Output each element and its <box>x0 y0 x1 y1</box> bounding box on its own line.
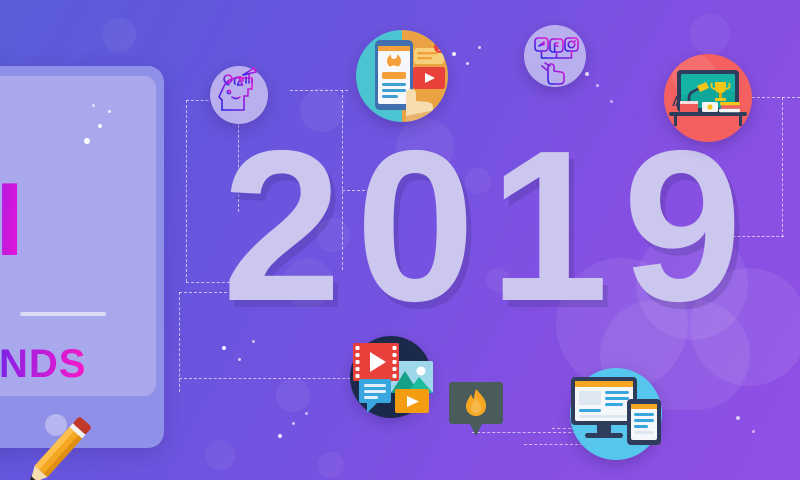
tablet-screen: UI TRENDS <box>0 76 156 396</box>
icon-badge-creative-mind[interactable] <box>210 66 268 124</box>
svg-text:1: 1 <box>438 44 443 53</box>
brain-head-icon <box>210 66 268 124</box>
bg-blob <box>318 452 344 478</box>
responsive-devices-icon <box>561 359 671 469</box>
sparkle-dot <box>478 46 481 49</box>
tablet-device: UI TRENDS <box>0 66 164 448</box>
icon-badge-social-network[interactable] <box>524 25 586 87</box>
banner-canvas: 2019 UI TRENDS <box>0 0 800 480</box>
icon-badge-responsive[interactable] <box>570 368 662 460</box>
icon-badge-rich-media[interactable] <box>350 336 432 418</box>
icon-badge-workspace[interactable] <box>664 54 752 142</box>
sparkle-dot <box>466 62 469 65</box>
bg-blob <box>276 378 310 412</box>
connector-line <box>290 90 348 91</box>
icon-badge-mobile-social[interactable]: 1 <box>356 30 448 122</box>
flame-trending-icon <box>448 378 504 440</box>
sparkle-dot <box>292 422 295 425</box>
mobile-social-video-icon: 1 <box>356 30 448 122</box>
rich-media-content-icon <box>341 327 441 427</box>
sparkle-dot <box>222 346 226 350</box>
sparkle-dot <box>278 434 282 438</box>
workspace-desk-icon <box>664 54 752 142</box>
sparkle-dot <box>610 100 613 103</box>
bg-blob <box>690 14 730 54</box>
sparkle-dot <box>752 430 755 433</box>
year-headline: 2019 <box>222 118 756 333</box>
tablet-home-button[interactable] <box>45 414 67 436</box>
connector-line <box>186 100 187 282</box>
pencil-stroke-line <box>0 76 156 396</box>
icon-badge-trending[interactable] <box>448 378 504 440</box>
sparkle-dot <box>305 412 308 415</box>
connector-line <box>179 292 180 392</box>
connector-line <box>179 292 227 293</box>
connector-line <box>782 97 783 237</box>
sparkle-dot <box>452 52 456 56</box>
sparkle-dot <box>596 84 599 87</box>
bg-blob <box>205 440 235 470</box>
bg-blob <box>102 18 136 52</box>
social-network-icon <box>524 25 586 87</box>
sparkle-dot <box>736 416 740 420</box>
sparkle-dot <box>238 358 241 361</box>
